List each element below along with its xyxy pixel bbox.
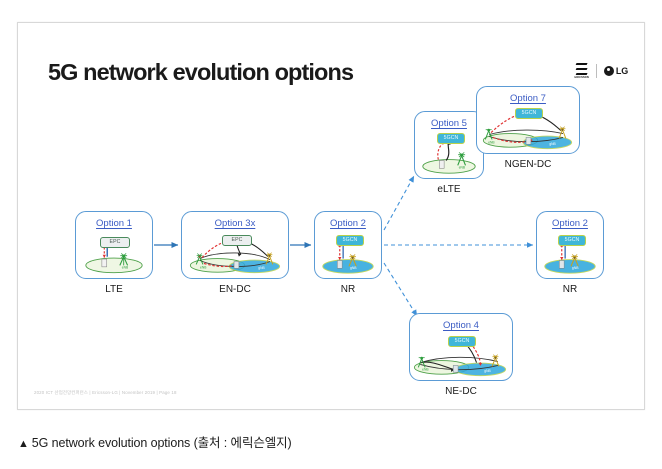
caption-triangle-icon: ▲ [18,438,29,450]
svg-text:gNB: gNB [350,266,357,270]
node-option2-center-label: NR [315,284,381,295]
node-option5-core-5gcn: 5GCN [437,133,465,144]
node-option1-core-epc: EPC [100,237,130,248]
node-option2-right-label: NR [537,284,603,295]
svg-text:eNB: eNB [122,265,129,269]
svg-text:eNB: eNB [422,367,429,371]
svg-text:gNB: gNB [572,266,579,270]
lg-logo: LG [604,66,628,76]
node-option7-diagram: eNB gNB [477,87,579,153]
node-option4-diagram: eNB gNB [410,314,512,380]
connector-opt2-opt5 [384,176,414,230]
node-option1[interactable]: Option 1 eNB EPC [75,211,153,279]
node-option3x[interactable]: Option 3x [181,211,289,279]
node-option2-right-core-5gcn: 5GCN [558,235,586,246]
node-option3x-label: EN-DC [182,284,288,295]
node-option5[interactable]: Option 5 eNB 5GCN eLTE [414,111,484,179]
screenshot-root: 5G network evolution options ERICSSON LG [0,0,662,469]
slide-footer: 2020 ICT 산업전망컨퍼런스 | Ericsson-LG | Novemb… [34,390,177,396]
lg-face-icon [604,66,614,76]
node-option5-label: eLTE [415,184,483,195]
ericsson-mark-icon [576,63,587,75]
ericsson-logo: ERICSSON [575,63,589,79]
caption-text: 5G network evolution options (출처 : 에릭슨엘지… [32,436,292,450]
lg-wordmark: LG [616,66,628,76]
svg-text:gNB: gNB [549,142,556,146]
node-option7-label: NGEN-DC [477,159,579,170]
node-option4[interactable]: Option 4 [409,313,513,381]
node-option4-label: NE-DC [410,386,512,397]
page-title: 5G network evolution options [48,59,353,86]
node-option7[interactable]: Option 7 [476,86,580,154]
node-option2-center-core-5gcn: 5GCN [336,235,364,246]
node-option2-right[interactable]: Option 2 gNB 5GCN NR [536,211,604,279]
slide-canvas: 5G network evolution options ERICSSON LG [17,22,645,410]
node-option7-core-5gcn: 5GCN [515,108,543,119]
connector-opt2-opt4 [384,263,417,316]
svg-text:eNB: eNB [488,140,495,144]
svg-text:eNB: eNB [200,265,207,269]
node-option3x-core-epc: EPC [222,235,252,246]
node-option2-center[interactable]: Option 2 gNB 5GCN NR [314,211,382,279]
svg-text:gNB: gNB [258,266,265,270]
svg-text:gNB: gNB [484,369,491,373]
vendor-logos: ERICSSON LG [575,61,628,81]
ericsson-wordmark: ERICSSON [575,76,589,79]
svg-text:eNB: eNB [459,165,466,169]
logo-divider [596,64,597,78]
node-option4-core-5gcn: 5GCN [448,336,476,347]
node-option1-label: LTE [76,284,152,295]
node-option5-diagram: eNB [415,112,483,178]
figure-caption: ▲5G network evolution options (출처 : 에릭슨엘… [18,432,292,451]
